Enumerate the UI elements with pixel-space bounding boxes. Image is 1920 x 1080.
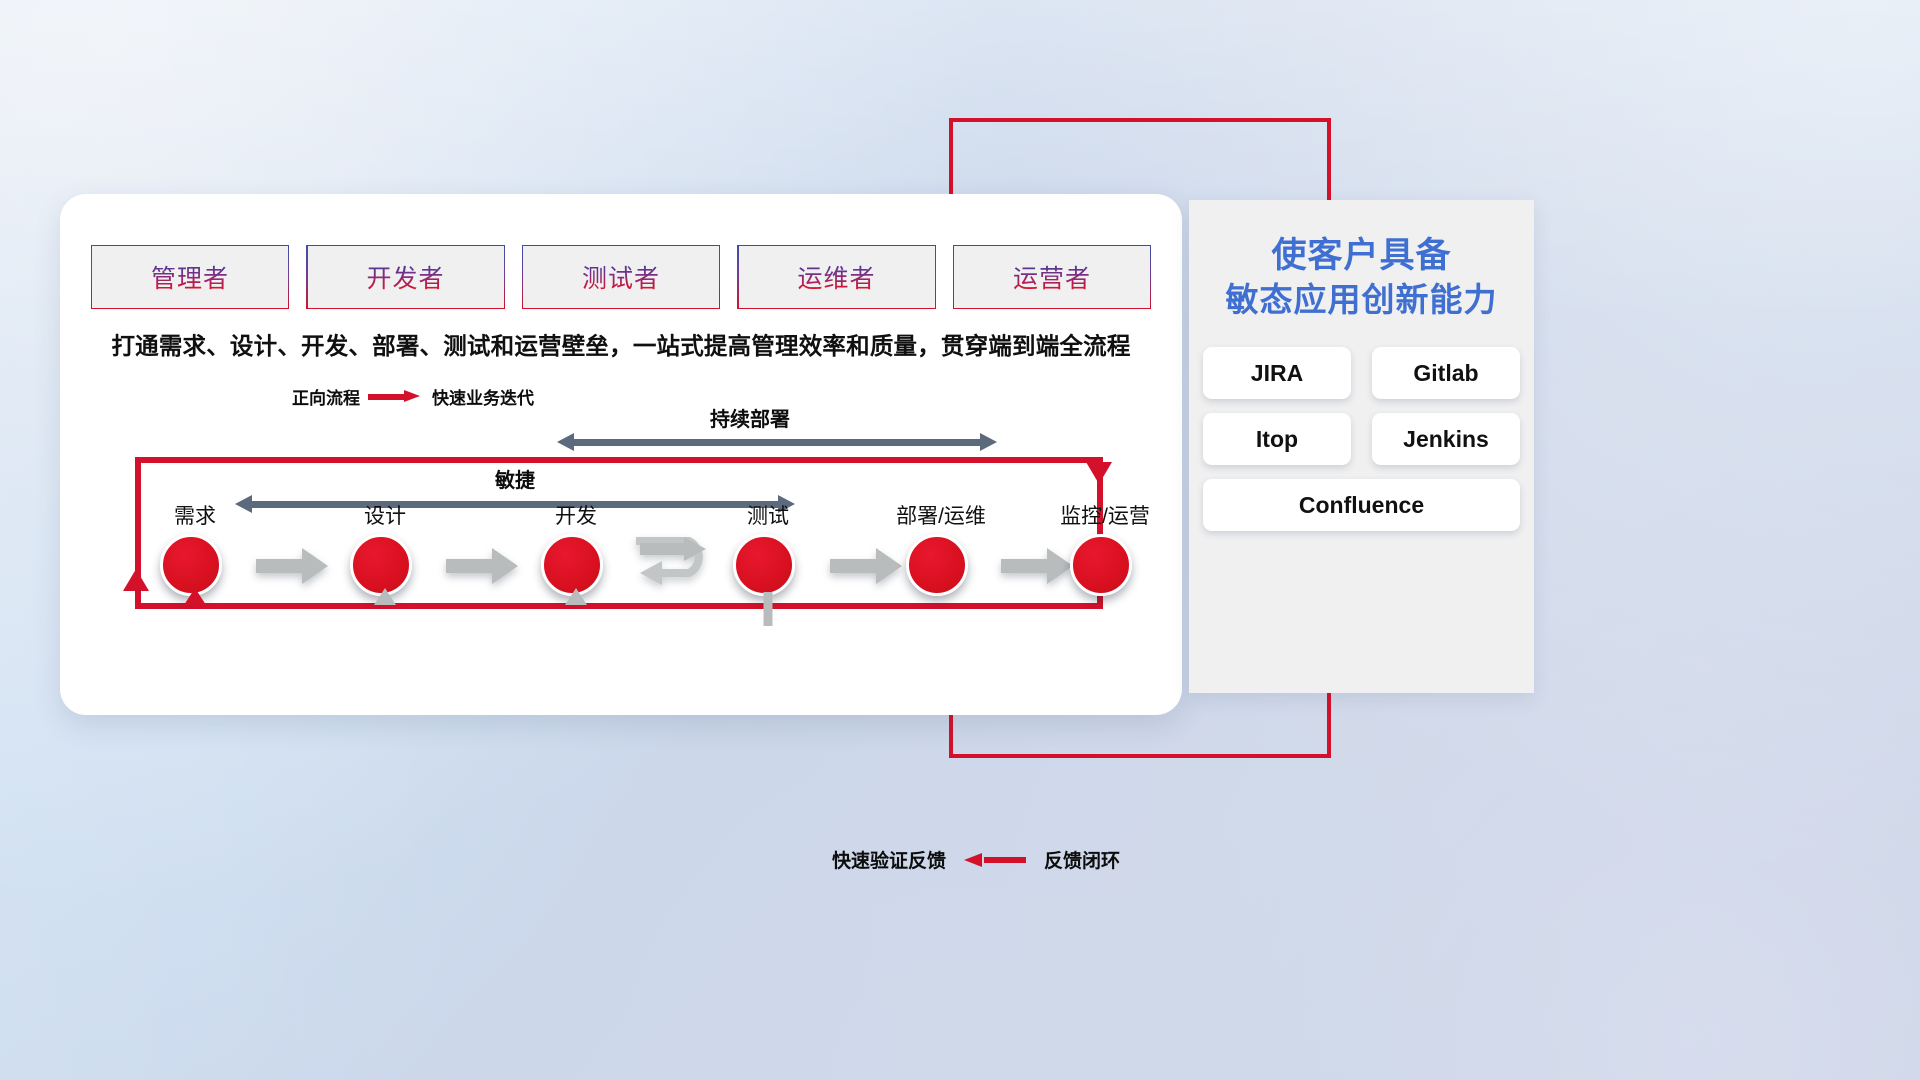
role-box-ops[interactable]: 运维者 <box>739 246 935 308</box>
tool-badge-list: JIRA Gitlab Itop Jenkins Confluence <box>1203 347 1520 531</box>
node-circle-icon <box>906 534 968 596</box>
feedback-right-label: 反馈闭环 <box>1044 846 1120 873</box>
flow-arrow-icon-4 <box>1001 548 1073 584</box>
pipeline-node-label: 开发 <box>555 500 597 530</box>
node-stem-arrow-icon <box>565 588 587 605</box>
node-circle-icon <box>1070 534 1132 596</box>
role-box-tester[interactable]: 测试者 <box>523 246 719 308</box>
role-label: 运维者 <box>797 259 875 295</box>
pipeline-node-label: 设计 <box>364 500 406 530</box>
node-circle-icon <box>541 534 603 596</box>
measure-label-continuous-deploy: 持续部署 <box>710 403 790 432</box>
arrow-head-left-icon <box>557 433 574 451</box>
panel-title-line2: 敏态应用创新能力 <box>1189 279 1534 321</box>
tool-badge-label: Gitlab <box>1413 360 1478 387</box>
legend-forward-left-label: 正向流程 <box>292 384 360 409</box>
legend-forward-flow: 正向流程 快速业务迭代 <box>292 384 534 409</box>
tool-badge-itop[interactable]: Itop <box>1203 413 1351 465</box>
devops-flow-card: 管理者 开发者 测试者 运维者 运营者 打通需求、设计、开发、部署、测试和运营壁… <box>60 194 1182 715</box>
pipeline-row: 需求 设计 开发 <box>60 494 1182 624</box>
tool-badge-label: Jenkins <box>1403 426 1489 453</box>
node-circle-icon <box>733 534 795 596</box>
role-label: 测试者 <box>582 259 660 295</box>
slide-canvas: 管理者 开发者 测试者 运维者 运营者 打通需求、设计、开发、部署、测试和运营壁… <box>0 0 1920 1080</box>
tool-badge-label: Itop <box>1256 426 1298 453</box>
flow-arrow-icon-3 <box>830 548 902 584</box>
legend-feedback-loop: 快速验证反馈 反馈闭环 <box>832 846 1120 873</box>
arrow-bar <box>573 439 981 446</box>
tool-badge-jenkins[interactable]: Jenkins <box>1372 413 1520 465</box>
role-box-operations[interactable]: 运营者 <box>954 246 1150 308</box>
left-arrow-icon <box>964 853 1026 867</box>
node-stem <box>764 592 773 626</box>
pipeline-node-label: 部署/运维 <box>896 500 986 530</box>
tool-badge-label: JIRA <box>1251 360 1303 387</box>
right-arrow-icon <box>368 390 424 403</box>
legend-forward-right-label: 快速业务迭代 <box>432 384 534 409</box>
flow-arrow-icon-2 <box>446 548 518 584</box>
panel-title: 使客户具备 敏态应用创新能力 <box>1189 200 1534 321</box>
node-circle-icon <box>350 534 412 596</box>
pipeline-node-label: 需求 <box>174 500 216 530</box>
role-label: 运营者 <box>1013 259 1091 295</box>
panel-title-line1: 使客户具备 <box>1189 234 1534 279</box>
role-box-row: 管理者 开发者 测试者 运维者 运营者 <box>92 246 1150 310</box>
arrow-head-right-icon <box>980 433 997 451</box>
pipeline-node-label: 监控/运营 <box>1060 500 1150 530</box>
role-box-manager[interactable]: 管理者 <box>92 246 288 308</box>
role-box-developer[interactable]: 开发者 <box>308 246 504 308</box>
tool-badge-confluence[interactable]: Confluence <box>1203 479 1520 531</box>
tool-badge-label: Confluence <box>1299 492 1424 519</box>
flow-arrow-icon-1 <box>256 548 328 584</box>
pipeline-node-label: 测试 <box>747 500 789 530</box>
tool-badge-jira[interactable]: JIRA <box>1203 347 1351 399</box>
role-label: 管理者 <box>151 259 229 295</box>
tool-badge-gitlab[interactable]: Gitlab <box>1372 347 1520 399</box>
iteration-loop-arrow-icon <box>632 535 724 595</box>
node-circle-icon <box>160 534 222 596</box>
node-stem-arrow-icon <box>184 588 206 605</box>
capability-panel: 使客户具备 敏态应用创新能力 JIRA Gitlab Itop Jenkins … <box>1189 200 1534 693</box>
role-label: 开发者 <box>366 259 444 295</box>
node-stem-arrow-icon <box>374 588 396 605</box>
measure-arrow-continuous-deploy <box>557 433 997 451</box>
card-description: 打通需求、设计、开发、部署、测试和运营壁垒，一站式提高管理效率和质量，贯穿端到端… <box>60 327 1182 361</box>
loop-arrow-down-icon <box>1086 462 1112 484</box>
feedback-left-label: 快速验证反馈 <box>832 846 946 873</box>
